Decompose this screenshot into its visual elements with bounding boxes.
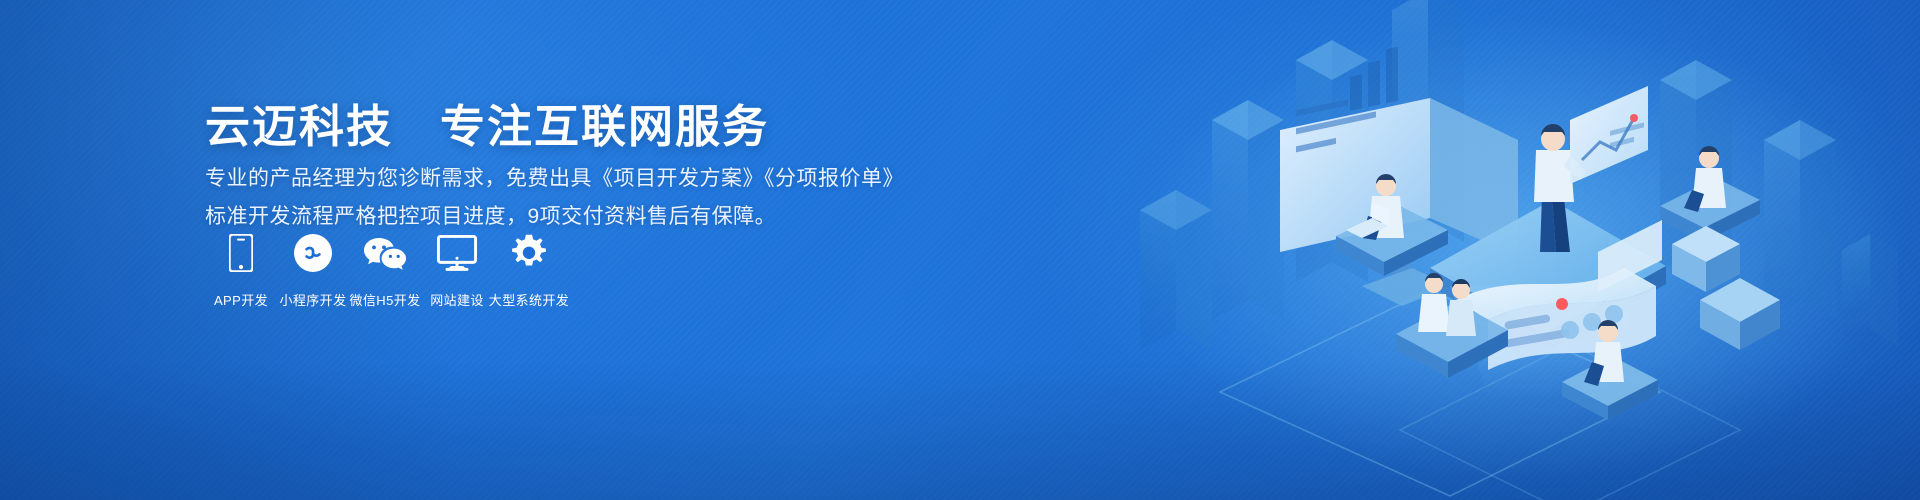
service-item-website[interactable]: 网站建设 — [421, 232, 493, 309]
subtitle-line-1: 专业的产品经理为您诊断需求，免费出具《项目开发方案》《分项报价单》 — [205, 168, 904, 189]
service-label: APP开发 — [214, 290, 268, 309]
service-list: APP开发 小程序开发 — [205, 232, 565, 309]
service-item-app[interactable]: APP开发 — [205, 232, 277, 309]
headline-brand: 云迈科技 — [205, 101, 393, 152]
service-item-mini-program[interactable]: 小程序开发 — [277, 232, 349, 309]
monitor-icon — [437, 232, 477, 274]
service-label: 大型系统开发 — [489, 290, 569, 309]
headline-tagline: 专注互联网服务 — [440, 101, 769, 152]
service-label: 微信H5开发 — [349, 290, 420, 309]
service-item-large-system[interactable]: 大型系统开发 — [493, 232, 565, 309]
subtitle-line-2: 标准开发流程严格把控项目进度，9项交付资料售后有保障。 — [205, 206, 776, 227]
service-label: 网站建设 — [430, 290, 484, 309]
hero-content: 云迈科技 专注互联网服务 专业的产品经理为您诊断需求，免费出具《项目开发方案》《… — [205, 0, 965, 500]
mini-program-icon — [294, 232, 332, 274]
mobile-phone-icon — [229, 232, 253, 274]
wechat-icon — [363, 232, 407, 274]
hero-banner: 云迈科技 专注互联网服务 专业的产品经理为您诊断需求，免费出具《项目开发方案》《… — [0, 0, 1920, 500]
service-label: 小程序开发 — [279, 290, 346, 309]
page-title: 云迈科技 专注互联网服务 — [205, 104, 769, 149]
service-item-wechat-h5[interactable]: 微信H5开发 — [349, 232, 421, 309]
gear-icon — [510, 232, 548, 274]
isometric-illustration — [1100, 0, 1920, 500]
